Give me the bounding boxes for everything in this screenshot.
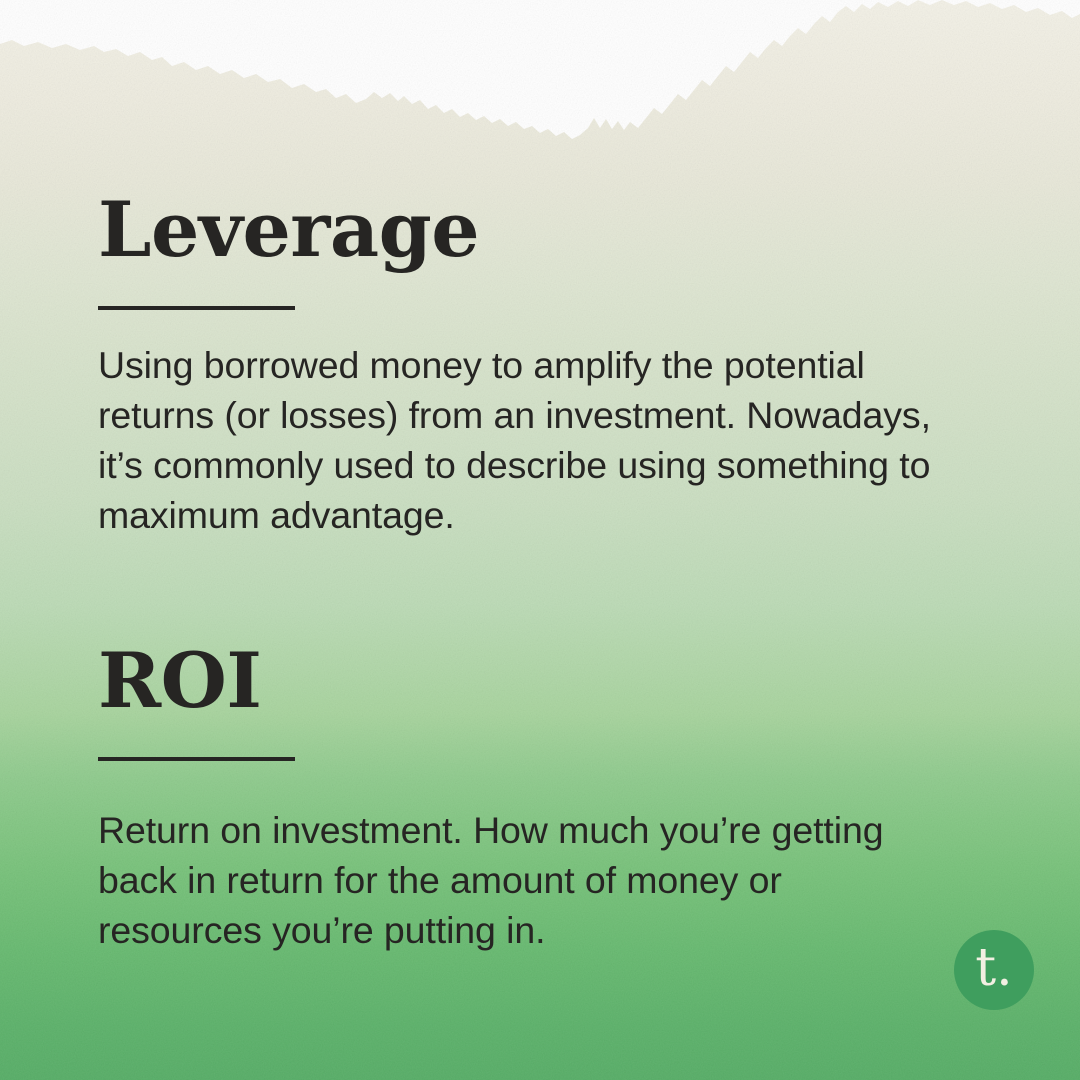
entry-body-roi: Return on investment. How much you’re ge… (98, 805, 1028, 955)
body-line: Using borrowed money to amplify the pote… (98, 340, 1028, 390)
body-line: Return on investment. How much you’re ge… (98, 805, 1028, 855)
body-line: back in return for the amount of money o… (98, 855, 1028, 905)
card-content: Leverage Using borrowed money to amplify… (0, 0, 1080, 1080)
glossary-card: Leverage Using borrowed money to amplify… (0, 0, 1080, 1080)
entry-body-leverage: Using borrowed money to amplify the pote… (98, 340, 1028, 540)
title-divider-leverage (98, 306, 295, 310)
body-line: maximum advantage. (98, 490, 1028, 540)
title-divider-roi (98, 757, 295, 761)
entry-title-leverage: Leverage (98, 192, 1028, 268)
entry-title-roi: ROI (98, 643, 1028, 719)
brand-logo-badge[interactable]: t. (954, 930, 1034, 1010)
brand-logo-mark: t. (975, 942, 1012, 994)
body-line: resources you’re putting in. (98, 905, 1028, 955)
glossary-entry-roi: ROI Return on investment. How much you’r… (98, 643, 1028, 955)
body-line: returns (or losses) from an investment. … (98, 390, 1028, 440)
body-line: it’s commonly used to describe using som… (98, 440, 1028, 490)
glossary-entry-leverage: Leverage Using borrowed money to amplify… (98, 192, 1028, 540)
